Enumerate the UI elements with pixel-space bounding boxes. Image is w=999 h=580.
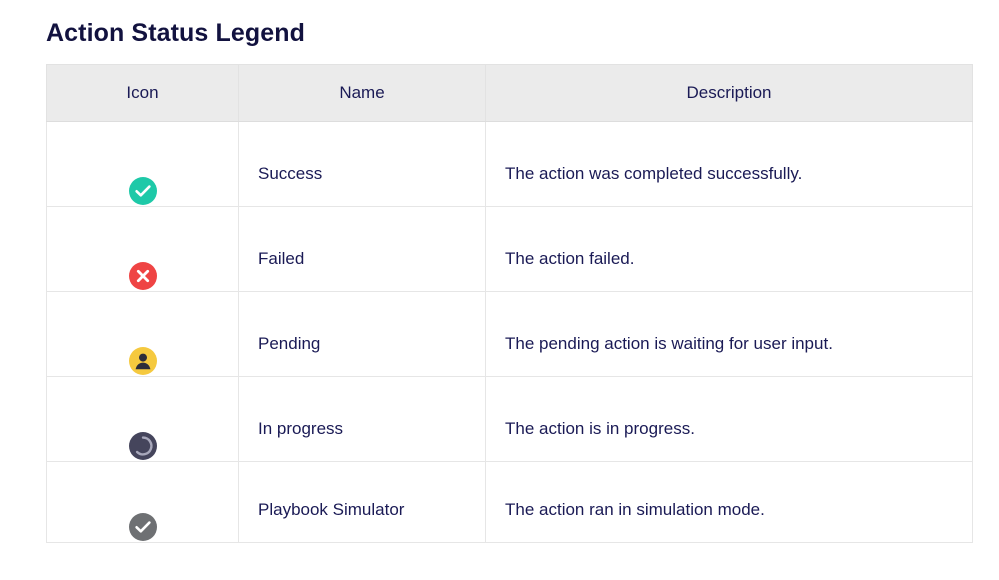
page-title: Action Status Legend — [46, 18, 305, 48]
cell-name: Success — [239, 122, 486, 207]
cell-description: The pending action is waiting for user i… — [486, 292, 973, 377]
table-row: Success The action was completed success… — [47, 122, 973, 207]
legend-page: Action Status Legend Icon Name Descripti… — [0, 0, 999, 580]
in-progress-status-icon — [128, 431, 158, 461]
column-header-description: Description — [486, 65, 973, 122]
status-description-label: The action was completed successfully. — [486, 164, 972, 206]
table-row: In progress The action is in progress. — [47, 377, 973, 462]
table-row: Pending The pending action is waiting fo… — [47, 292, 973, 377]
pending-status-icon — [128, 346, 158, 376]
playbook-simulator-status-icon — [128, 512, 158, 542]
table-row: Playbook Simulator The action ran in sim… — [47, 462, 973, 543]
cell-icon — [47, 292, 239, 377]
cell-name: Failed — [239, 207, 486, 292]
column-header-name: Name — [239, 65, 486, 122]
cell-description: The action ran in simulation mode. — [486, 462, 973, 543]
status-description-label: The action ran in simulation mode. — [486, 500, 972, 542]
table-body: Success The action was completed success… — [47, 122, 973, 543]
cell-name: In progress — [239, 377, 486, 462]
table-header: Icon Name Description — [47, 65, 973, 122]
status-description-label: The action failed. — [486, 249, 972, 291]
cell-icon — [47, 377, 239, 462]
cell-name: Playbook Simulator — [239, 462, 486, 543]
cell-name: Pending — [239, 292, 486, 377]
table-row: Failed The action failed. — [47, 207, 973, 292]
cell-description: The action is in progress. — [486, 377, 973, 462]
status-name-label: Playbook Simulator — [239, 500, 485, 542]
status-name-label: In progress — [239, 419, 485, 461]
table-header-row: Icon Name Description — [47, 65, 973, 122]
cell-icon — [47, 122, 239, 207]
status-description-label: The action is in progress. — [486, 419, 972, 461]
status-name-label: Pending — [239, 334, 485, 376]
status-name-label: Success — [239, 164, 485, 206]
cell-description: The action failed. — [486, 207, 973, 292]
failed-status-icon — [128, 261, 158, 291]
column-header-icon: Icon — [47, 65, 239, 122]
status-name-label: Failed — [239, 249, 485, 291]
success-status-icon — [128, 176, 158, 206]
status-description-label: The pending action is waiting for user i… — [486, 334, 972, 376]
cell-icon — [47, 207, 239, 292]
action-status-legend-table: Icon Name Description Success — [46, 64, 973, 543]
cell-description: The action was completed successfully. — [486, 122, 973, 207]
cell-icon — [47, 462, 239, 543]
